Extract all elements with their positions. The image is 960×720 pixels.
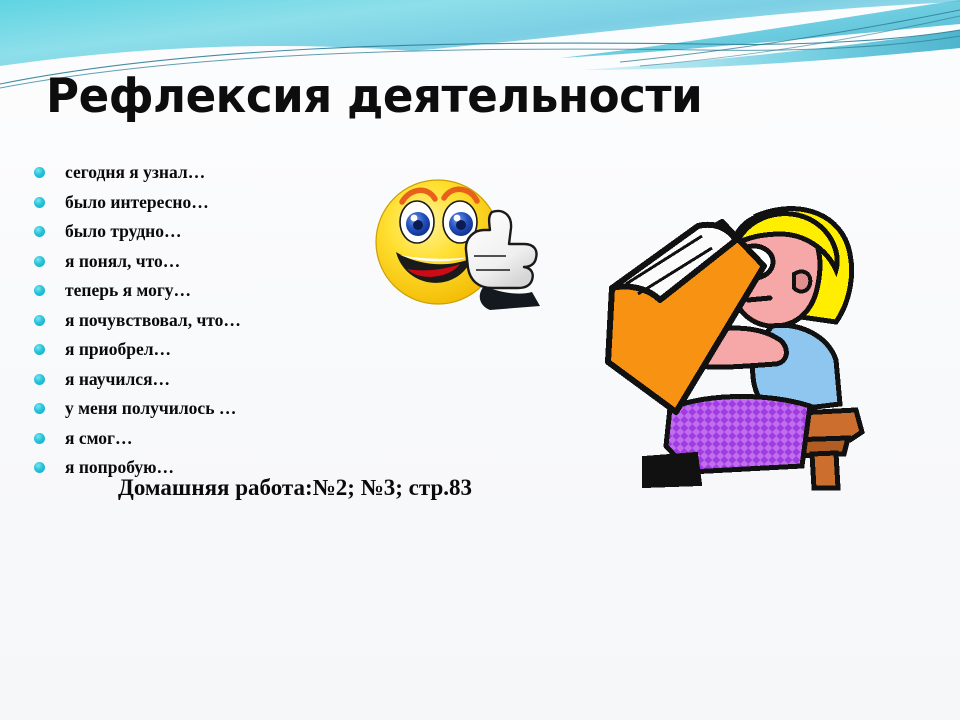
page-title: Рефлексия деятельности — [46, 70, 702, 124]
bullet-dot-icon — [34, 197, 45, 208]
smiley-eye-glint-right — [454, 215, 461, 222]
bullet-dot-icon — [34, 285, 45, 296]
list-item: у меня получилось … — [34, 394, 394, 424]
smiley-thumbs-up-svg — [372, 172, 550, 310]
boy-reading-book-svg — [604, 196, 872, 496]
bullet-dot-icon — [34, 226, 45, 237]
list-item: я приобрел… — [34, 335, 394, 365]
bullet-label: я почувствовал, что… — [65, 311, 241, 330]
bullet-label: я смог… — [65, 429, 133, 448]
bullet-dot-icon — [34, 462, 45, 473]
smiley-sleeve — [480, 286, 540, 310]
bullet-label: теперь я могу… — [65, 281, 191, 300]
bullet-dot-icon — [34, 315, 45, 326]
bullet-label: я научился… — [65, 370, 170, 389]
bullet-label: у меня получилось … — [65, 399, 236, 418]
bullet-dot-icon — [34, 167, 45, 178]
wave-line-right — [620, 10, 960, 62]
wave-line-right-2 — [640, 16, 960, 66]
boy-stool-leg — [812, 453, 838, 488]
smiley-eye-glint-left — [411, 215, 418, 222]
list-item: я смог… — [34, 424, 394, 454]
bullet-label: было интересно… — [65, 193, 209, 212]
bullet-dot-icon — [34, 374, 45, 385]
list-item: теперь я могу… — [34, 276, 394, 306]
list-item: сегодня я узнал… — [34, 158, 394, 188]
list-item: я понял, что… — [34, 247, 394, 277]
list-item: было интересно… — [34, 188, 394, 218]
bullet-dot-icon — [34, 256, 45, 267]
reflection-bullet-list: сегодня я узнал… было интересно… было тр… — [34, 158, 394, 483]
wave-band-primary — [0, 0, 960, 70]
wave-ribbon-tertiary — [580, 30, 960, 70]
bullet-dot-icon — [34, 433, 45, 444]
bullet-label: я понял, что… — [65, 252, 180, 271]
homework-assignment-text: Домашняя работа:№2; №3; стр.83 — [118, 474, 472, 501]
smiley-pupil-right — [456, 220, 466, 230]
bullet-dot-icon — [34, 344, 45, 355]
smiley-thumbs-up-icon — [372, 172, 550, 310]
smiley-pupil-left — [413, 220, 423, 230]
boy-reading-book-icon — [604, 196, 872, 496]
bullet-label: было трудно… — [65, 222, 182, 241]
presentation-slide: Рефлексия деятельности сегодня я узнал… … — [0, 0, 960, 720]
bullet-dot-icon — [34, 403, 45, 414]
bullet-label: сегодня я узнал… — [65, 163, 205, 182]
list-item: я почувствовал, что… — [34, 306, 394, 336]
boy-ear — [794, 272, 810, 292]
boy-mouth — [748, 298, 770, 300]
wave-ribbon-secondary — [560, 0, 960, 58]
boy-shoe — [644, 454, 700, 486]
bullet-label: я приобрел… — [65, 340, 171, 359]
list-item: было трудно… — [34, 217, 394, 247]
list-item: я научился… — [34, 365, 394, 395]
